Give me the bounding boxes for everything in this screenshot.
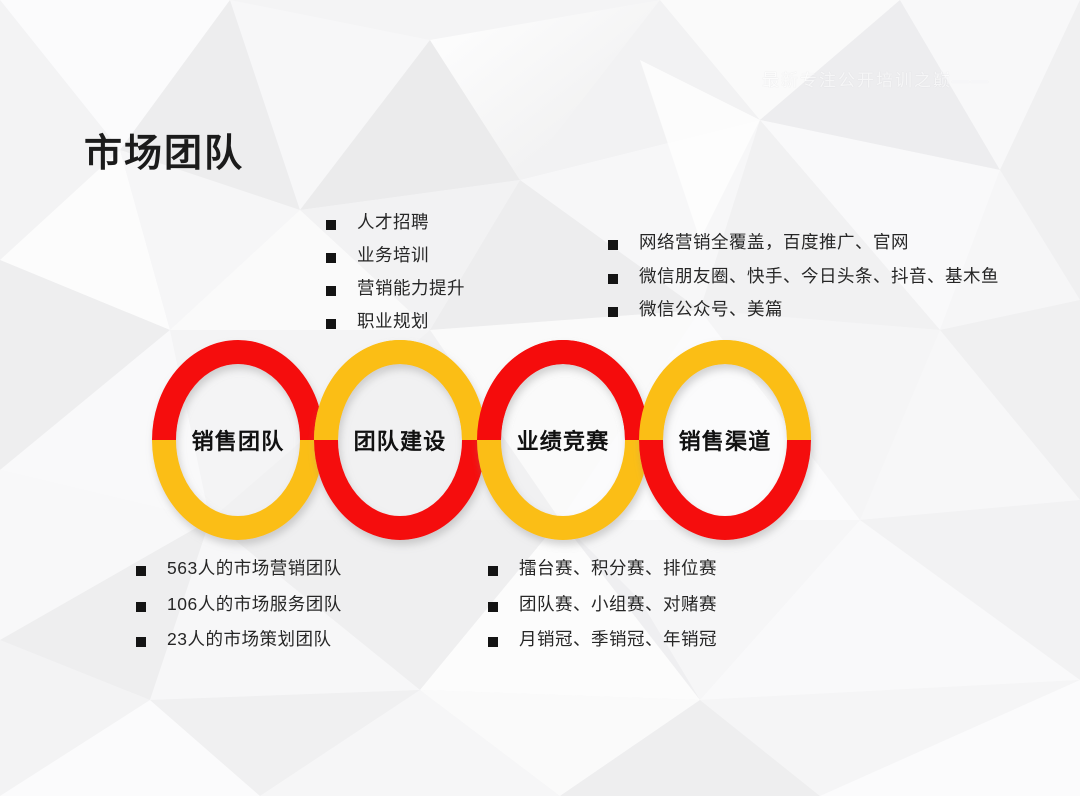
list-item: 职业规划 (326, 313, 465, 331)
watermark-text: 最新专注公开培训之巅—— (762, 66, 1022, 91)
list-item-label: 微信朋友圈、快手、今日头条、抖音、基木鱼 (639, 268, 999, 286)
list-item: 微信公众号、美篇 (608, 301, 999, 319)
list-item: 擂台赛、积分赛、排位赛 (488, 560, 717, 578)
list-item-label: 563人的市场营销团队 (167, 560, 342, 578)
square-bullet-icon (488, 566, 498, 576)
square-bullet-icon (608, 274, 618, 284)
list-item: 业务培训 (326, 247, 465, 265)
list-item: 月销冠、季销冠、年销冠 (488, 631, 717, 649)
ring-label-team-building: 团队建设 (354, 424, 447, 456)
square-bullet-icon (608, 307, 618, 317)
list-item-label: 23人的市场策划团队 (167, 631, 331, 649)
list-item: 网络营销全覆盖，百度推广、官网 (608, 234, 999, 252)
list-item-label: 网络营销全覆盖，百度推广、官网 (639, 234, 909, 252)
square-bullet-icon (488, 602, 498, 612)
square-bullet-icon (136, 566, 146, 576)
list-item: 营销能力提升 (326, 280, 465, 298)
list-item: 人才招聘 (326, 214, 465, 232)
bullet-list-contest-formats: 擂台赛、积分赛、排位赛 团队赛、小组赛、对赌赛 月销冠、季销冠、年销冠 (488, 560, 717, 667)
bullet-list-team-headcount: 563人的市场营销团队 106人的市场服务团队 23人的市场策划团队 (136, 560, 342, 667)
square-bullet-icon (488, 637, 498, 647)
list-item-label: 人才招聘 (357, 214, 429, 232)
list-item: 微信朋友圈、快手、今日头条、抖音、基木鱼 (608, 268, 999, 286)
bullet-list-marketing-channels: 网络营销全覆盖，百度推广、官网 微信朋友圈、快手、今日头条、抖音、基木鱼 微信公… (608, 234, 999, 335)
list-item-label: 业务培训 (357, 247, 429, 265)
list-item-label: 职业规划 (357, 313, 429, 331)
square-bullet-icon (136, 637, 146, 647)
list-item-label: 106人的市场服务团队 (167, 596, 342, 614)
page-title: 市场团队 (84, 122, 244, 177)
square-bullet-icon (326, 286, 336, 296)
square-bullet-icon (326, 253, 336, 263)
list-item-label: 团队赛、小组赛、对赌赛 (519, 596, 717, 614)
ring-label-sales-team: 销售团队 (192, 424, 285, 456)
square-bullet-icon (326, 220, 336, 230)
bullet-list-recruitment: 人才招聘 业务培训 营销能力提升 职业规划 (326, 214, 465, 346)
list-item-label: 微信公众号、美篇 (639, 301, 783, 319)
square-bullet-icon (136, 602, 146, 612)
list-item-label: 月销冠、季销冠、年销冠 (519, 631, 717, 649)
slide-canvas: 最新专注公开培训之巅—— 市场团队 人才招聘 业务培训 营销能力提升 职业规划 … (0, 0, 1080, 796)
ring-label-performance-contest: 业绩竞赛 (517, 424, 610, 456)
list-item: 23人的市场策划团队 (136, 631, 342, 649)
list-item-label: 擂台赛、积分赛、排位赛 (519, 560, 717, 578)
square-bullet-icon (326, 319, 336, 329)
list-item: 563人的市场营销团队 (136, 560, 342, 578)
list-item: 团队赛、小组赛、对赌赛 (488, 596, 717, 614)
ring-label-sales-channel: 销售渠道 (679, 424, 772, 456)
list-item-label: 营销能力提升 (357, 280, 465, 298)
list-item: 106人的市场服务团队 (136, 596, 342, 614)
square-bullet-icon (608, 240, 618, 250)
